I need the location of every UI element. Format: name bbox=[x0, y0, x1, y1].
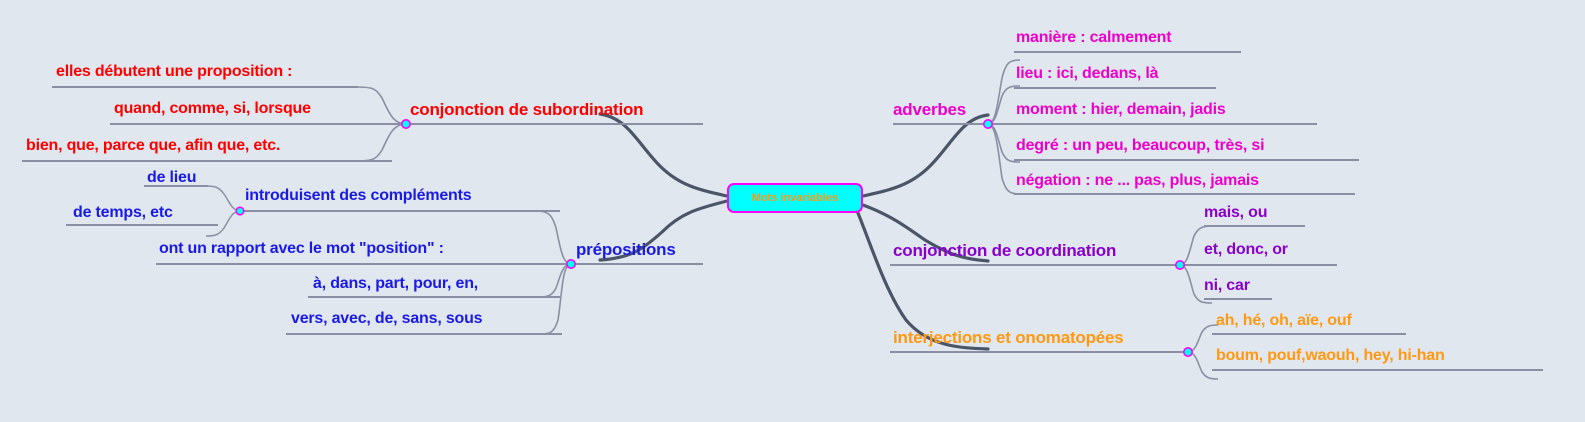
junction-interjections bbox=[1184, 348, 1192, 356]
node-prep-child-1-a[interactable]: de lieu bbox=[147, 170, 196, 186]
node-adv-child-4[interactable]: degré : un peu, beaucoup, très, si bbox=[1016, 138, 1264, 154]
branch-label-conjonction-de-coordination[interactable]: conjonction de coordination bbox=[893, 242, 1116, 259]
branch-conj-sub-child1 bbox=[356, 87, 406, 124]
branch-inter-child1 bbox=[1188, 325, 1218, 352]
branch-prep-child1 bbox=[536, 211, 571, 264]
node-conj-sub-child-2[interactable]: quand, comme, si, lorsque bbox=[114, 101, 311, 117]
trunk-conjonction-subordination bbox=[600, 114, 727, 196]
branch-prep-child4 bbox=[540, 264, 571, 334]
junction-prepositions bbox=[567, 260, 575, 268]
trunk-adverbes bbox=[863, 115, 988, 196]
branch-conj-sub-child3 bbox=[356, 124, 406, 161]
branch-label-prepositions[interactable]: prépositions bbox=[576, 241, 676, 258]
branch-label-interjections-et-onomatopees[interactable]: interjections et onomatopées bbox=[893, 329, 1124, 346]
branch-label-adverbes[interactable]: adverbes bbox=[893, 101, 966, 118]
node-prep-child-1[interactable]: introduisent des compléments bbox=[245, 188, 471, 204]
branch-prep-child1-a bbox=[206, 186, 240, 211]
node-conj-sub-child-1[interactable]: elles débutent une proposition : bbox=[56, 64, 292, 80]
node-prep-child-3[interactable]: à, dans, part, pour, en, bbox=[313, 276, 478, 292]
node-prep-child-2[interactable]: ont un rapport avec le mot "position" : bbox=[159, 241, 444, 257]
node-adv-child-2[interactable]: lieu : ici, dedans, là bbox=[1016, 66, 1158, 82]
node-adv-child-5[interactable]: négation : ne ... pas, plus, jamais bbox=[1016, 173, 1259, 189]
central-topic-node[interactable]: Mots invariables bbox=[727, 183, 863, 213]
node-coord-child-2[interactable]: et, donc, or bbox=[1204, 242, 1288, 258]
central-topic-label: Mots invariables bbox=[752, 192, 838, 204]
branch-inter-child2 bbox=[1188, 352, 1218, 379]
node-inter-child-1[interactable]: ah, hé, oh, aïe, ouf bbox=[1216, 313, 1352, 329]
junction-conjonction-coordination bbox=[1176, 261, 1184, 269]
branch-label-conjonction-de-subordination[interactable]: conjonction de subordination bbox=[410, 101, 643, 118]
node-coord-child-3[interactable]: ni, car bbox=[1204, 278, 1250, 294]
node-adv-child-1[interactable]: manière : calmement bbox=[1016, 30, 1171, 46]
junction-adverbes bbox=[984, 120, 992, 128]
branch-prep-child3 bbox=[538, 264, 571, 297]
branch-prep-child1-b bbox=[206, 211, 240, 236]
junction-prep-child1 bbox=[236, 207, 244, 215]
node-conj-sub-child-3[interactable]: bien, que, parce que, afin que, etc. bbox=[26, 138, 280, 154]
node-inter-child-2[interactable]: boum, pouf,waouh, hey, hi-han bbox=[1216, 348, 1445, 364]
junction-conjonction-subordination bbox=[402, 120, 410, 128]
node-adv-child-3[interactable]: moment : hier, demain, jadis bbox=[1016, 102, 1226, 118]
node-coord-child-1[interactable]: mais, ou bbox=[1204, 205, 1267, 221]
node-prep-child-1-b[interactable]: de temps, etc bbox=[73, 205, 173, 221]
node-prep-child-4[interactable]: vers, avec, de, sans, sous bbox=[291, 311, 482, 327]
mindmap-canvas: Mots invariables conjonction de subordin… bbox=[0, 0, 1585, 422]
